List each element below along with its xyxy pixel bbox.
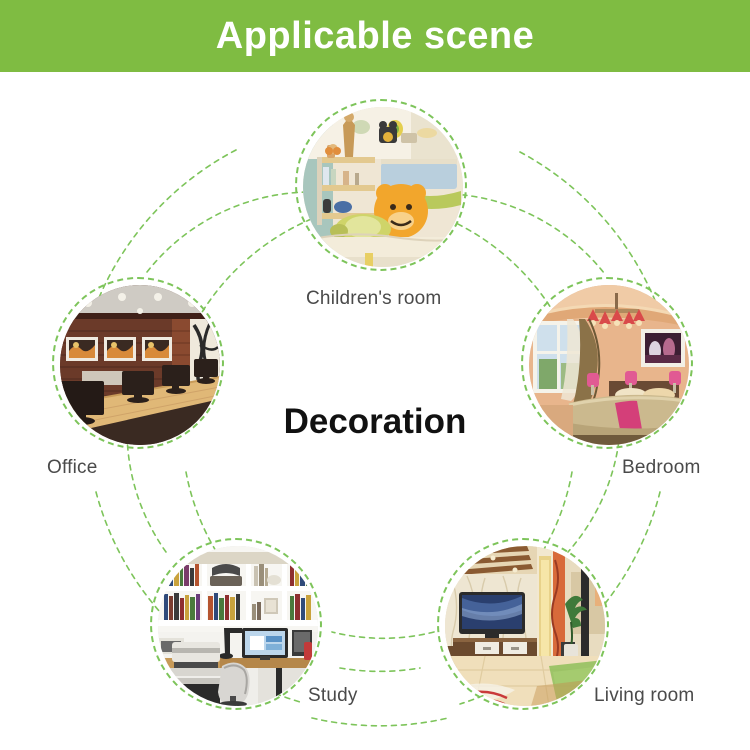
scene-node-living-room[interactable] — [437, 538, 613, 714]
scene-label-children-room: Children's room — [306, 288, 441, 310]
header-banner: Applicable scene — [0, 0, 750, 72]
scene-photo-bedroom — [529, 285, 689, 445]
study-illustration — [158, 546, 318, 706]
connector-outer-bottom — [312, 718, 448, 726]
connector-living-study — [332, 632, 434, 638]
scene-node-office[interactable] — [52, 277, 228, 453]
page-title: Applicable scene — [216, 17, 534, 55]
office-illustration — [60, 285, 220, 445]
scene-label-study: Study — [308, 685, 358, 707]
connector-inner-bottom — [340, 668, 420, 671]
scene-photo-office — [60, 285, 220, 445]
connector-office-children — [147, 192, 307, 272]
scene-photo-living-room — [445, 546, 605, 706]
scene-node-study[interactable] — [150, 538, 326, 714]
scene-photo-children-room — [303, 107, 463, 267]
scene-node-bedroom[interactable] — [521, 277, 697, 453]
scene-label-office: Office — [47, 457, 97, 479]
bedroom-illustration — [529, 285, 689, 445]
scene-photo-study — [158, 546, 318, 706]
scene-diagram: Decoration — [0, 72, 750, 750]
scene-node-children-room[interactable] — [295, 99, 471, 275]
living-room-illustration — [445, 546, 605, 706]
scene-label-living-room: Living room — [594, 685, 694, 707]
scene-label-bedroom: Bedroom — [622, 457, 701, 479]
children-room-illustration — [303, 107, 463, 267]
applicable-scene-infographic: Applicable scene — [0, 0, 750, 750]
